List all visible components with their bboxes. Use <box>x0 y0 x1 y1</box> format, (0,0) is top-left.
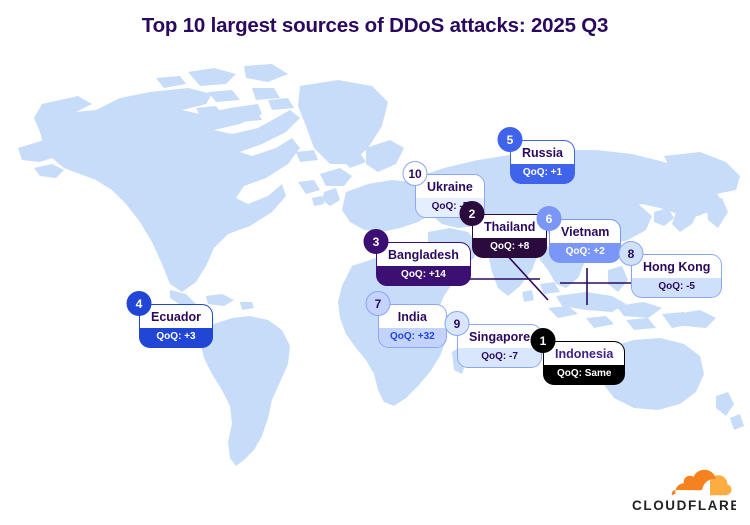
qoq-value: QoQ: +32 <box>379 328 446 347</box>
country-name: Hong Kong <box>632 255 721 278</box>
country-name: Indonesia <box>544 342 624 365</box>
cloudflare-logo: CLOUDFLARE <box>632 467 736 513</box>
label-card: Bangladesh QoQ: +14 <box>376 242 471 286</box>
rank-badge: 4 <box>127 291 152 316</box>
rank-badge: 1 <box>531 328 556 353</box>
label-card: Hong Kong QoQ: -5 <box>631 254 722 298</box>
country-name: Thailand <box>473 215 546 238</box>
cloudflare-logo-svg: CLOUDFLARE <box>632 467 736 513</box>
rank-badge: 9 <box>445 311 470 336</box>
qoq-value: QoQ: +14 <box>377 266 470 285</box>
cloudflare-wordmark: CLOUDFLARE <box>632 498 736 513</box>
rank-badge: 5 <box>498 127 523 152</box>
rank-badge: 7 <box>366 291 391 316</box>
qoq-value: QoQ: -5 <box>632 278 721 297</box>
label-card: India QoQ: +32 <box>378 304 447 348</box>
label-card: Ecuador QoQ: +3 <box>139 304 213 348</box>
qoq-value: QoQ: +3 <box>140 328 212 347</box>
country-name: Singapore <box>458 325 541 348</box>
cloudflare-cloud-icon <box>672 470 732 496</box>
country-name: Vietnam <box>550 220 620 243</box>
rank-badge: 8 <box>619 241 644 266</box>
qoq-value: QoQ: +2 <box>550 243 620 262</box>
label-card: Vietnam QoQ: +2 <box>549 219 621 263</box>
qoq-value: QoQ: -7 <box>458 348 541 367</box>
infographic-root: Top 10 largest sources of DDoS attacks: … <box>0 0 750 525</box>
rank-badge: 3 <box>364 229 389 254</box>
country-name: Bangladesh <box>377 243 470 266</box>
rank-badge: 2 <box>460 201 485 226</box>
label-card: Singapore QoQ: -7 <box>457 324 542 368</box>
page-title: Top 10 largest sources of DDoS attacks: … <box>0 14 750 38</box>
qoq-value: QoQ: Same <box>544 365 624 384</box>
qoq-value: QoQ: +1 <box>511 164 574 183</box>
label-card: Indonesia QoQ: Same <box>543 341 625 385</box>
qoq-value: QoQ: +8 <box>473 238 546 257</box>
rank-badge: 6 <box>537 206 562 231</box>
rank-badge: 10 <box>403 161 428 186</box>
country-name: Ecuador <box>140 305 212 328</box>
